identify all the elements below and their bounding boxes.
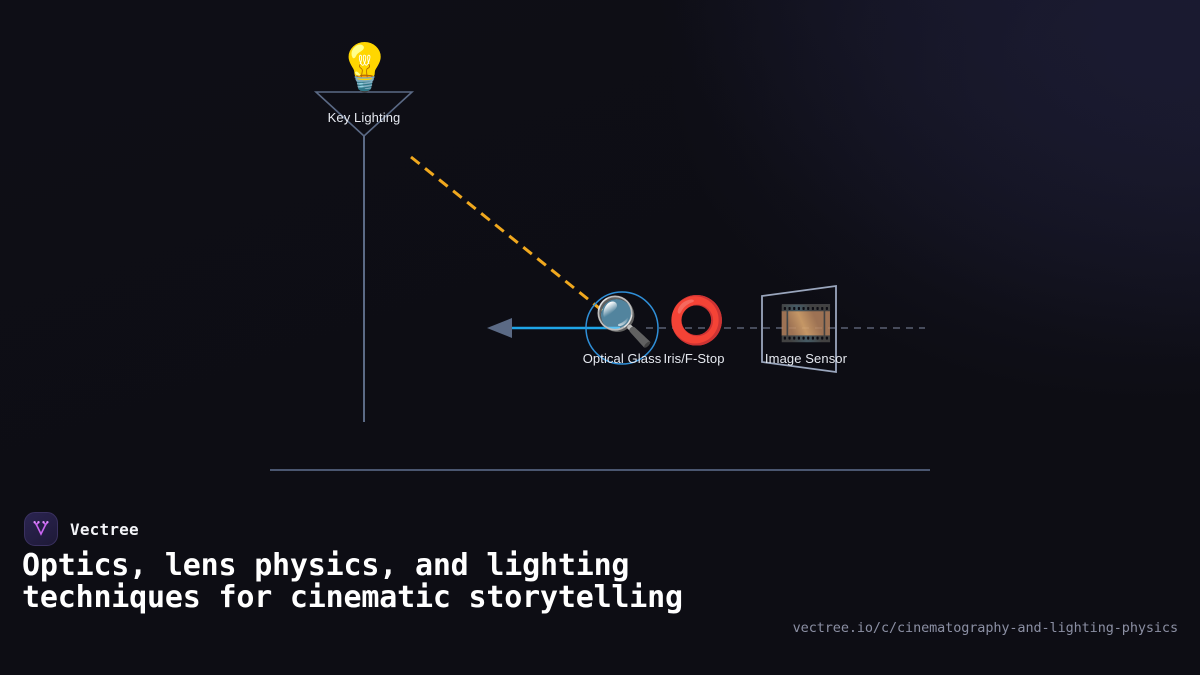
diagram-vector-layer <box>0 0 1200 500</box>
brand-name: Vectree <box>70 520 139 539</box>
magnifying-glass-icon: 🔍 <box>594 298 650 346</box>
slide-canvas: 💡 🔍 ⭕ 🎞️ Key Lighting Optical Glass Iris… <box>0 0 1200 675</box>
light-ray-line <box>411 157 604 312</box>
image-sensor-label: Image Sensor <box>706 351 906 366</box>
footer-url: vectree.io/c/cinematography-and-lighting… <box>793 620 1178 636</box>
brand-row: Vectree <box>24 512 139 546</box>
optical-axis-arrowhead-icon <box>487 318 512 338</box>
vectree-logo-icon <box>24 512 58 546</box>
key-light-label: Key Lighting <box>264 110 464 125</box>
optics-diagram: 💡 🔍 ⭕ 🎞️ Key Lighting Optical Glass Iris… <box>0 0 1200 500</box>
red-ring-icon: ⭕ <box>668 297 720 343</box>
film-frames-icon: 🎞️ <box>778 302 834 346</box>
page-title: Optics, lens physics, and lighting techn… <box>22 550 782 615</box>
slide-footer: Vectree Optics, lens physics, and lighti… <box>0 500 1200 675</box>
light-bulb-icon: 💡 <box>336 44 392 90</box>
